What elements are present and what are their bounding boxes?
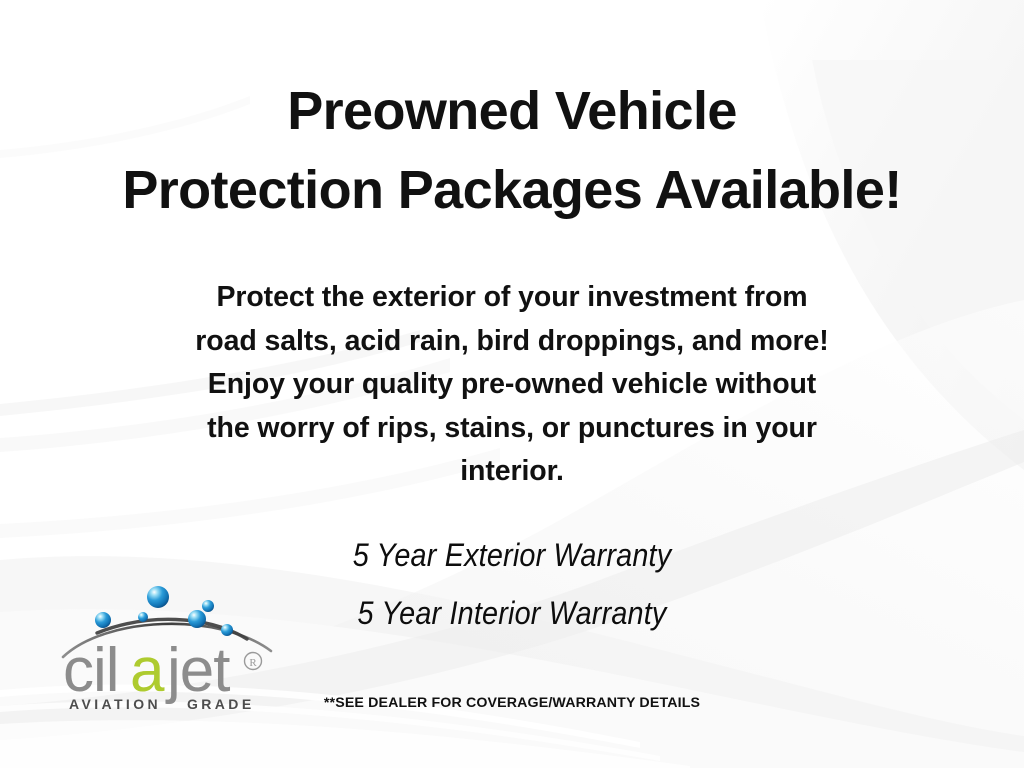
- body-paragraph: Protect the exterior of your investment …: [0, 276, 1024, 494]
- cilajet-logo: cil a jet R AVIATION GRADE: [57, 583, 297, 713]
- logo-bead-tiny-1: [138, 612, 148, 622]
- logo-bead-medium: [188, 610, 206, 628]
- body-line-3: Enjoy your quality pre-owned vehicle wit…: [0, 363, 1024, 407]
- logo-wordmark-a: a: [130, 636, 165, 705]
- slide-content: Preowned Vehicle Protection Packages Ava…: [0, 0, 1024, 768]
- logo-wordmark-cil: cil: [63, 636, 119, 705]
- logo-bead-small-1: [202, 600, 214, 612]
- headline-line-1: Preowned Vehicle: [0, 72, 1024, 151]
- svg-text:R: R: [249, 657, 257, 669]
- logo-bead-large: [147, 586, 169, 608]
- logo-tagline-grade: GRADE: [187, 696, 255, 712]
- body-line-1: Protect the exterior of your investment …: [0, 276, 1024, 320]
- body-line-4: the worry of rips, stains, or punctures …: [0, 407, 1024, 451]
- body-line-2: road salts, acid rain, bird droppings, a…: [0, 320, 1024, 364]
- headline-line-2: Protection Packages Available!: [0, 151, 1024, 230]
- logo-tagline-aviation: AVIATION: [69, 696, 161, 712]
- logo-wordmark-jet: jet: [165, 636, 230, 705]
- registered-trademark-icon: R: [245, 653, 262, 670]
- logo-bead-tiny-2: [221, 624, 233, 636]
- body-line-5: interior.: [0, 450, 1024, 494]
- warranty-exterior: 5 Year Exterior Warranty: [51, 527, 973, 585]
- logo-bead-small-2: [95, 612, 111, 628]
- slide-canvas: Preowned Vehicle Protection Packages Ava…: [0, 0, 1024, 768]
- page-title: Preowned Vehicle Protection Packages Ava…: [0, 72, 1024, 230]
